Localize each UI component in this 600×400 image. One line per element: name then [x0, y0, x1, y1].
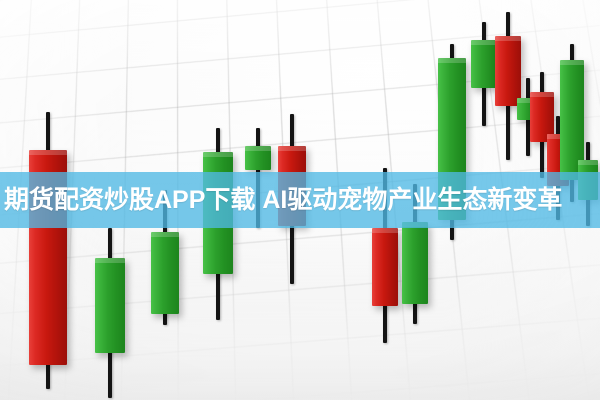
- candle-body-up: [402, 222, 428, 304]
- candle-body-up: [151, 232, 179, 314]
- candle-body-up: [95, 258, 125, 353]
- candlestick-banner-image: 期货配资炒股APP下载 AI驱动宠物产业生态新变革: [0, 0, 600, 400]
- banner-title: 期货配资炒股APP下载 AI驱动宠物产业生态新变革: [0, 188, 562, 213]
- title-band: 期货配资炒股APP下载 AI驱动宠物产业生态新变革: [0, 172, 600, 228]
- candle-body-up: [245, 146, 271, 170]
- candle-body-down: [372, 228, 398, 306]
- candle-body-up: [471, 40, 497, 88]
